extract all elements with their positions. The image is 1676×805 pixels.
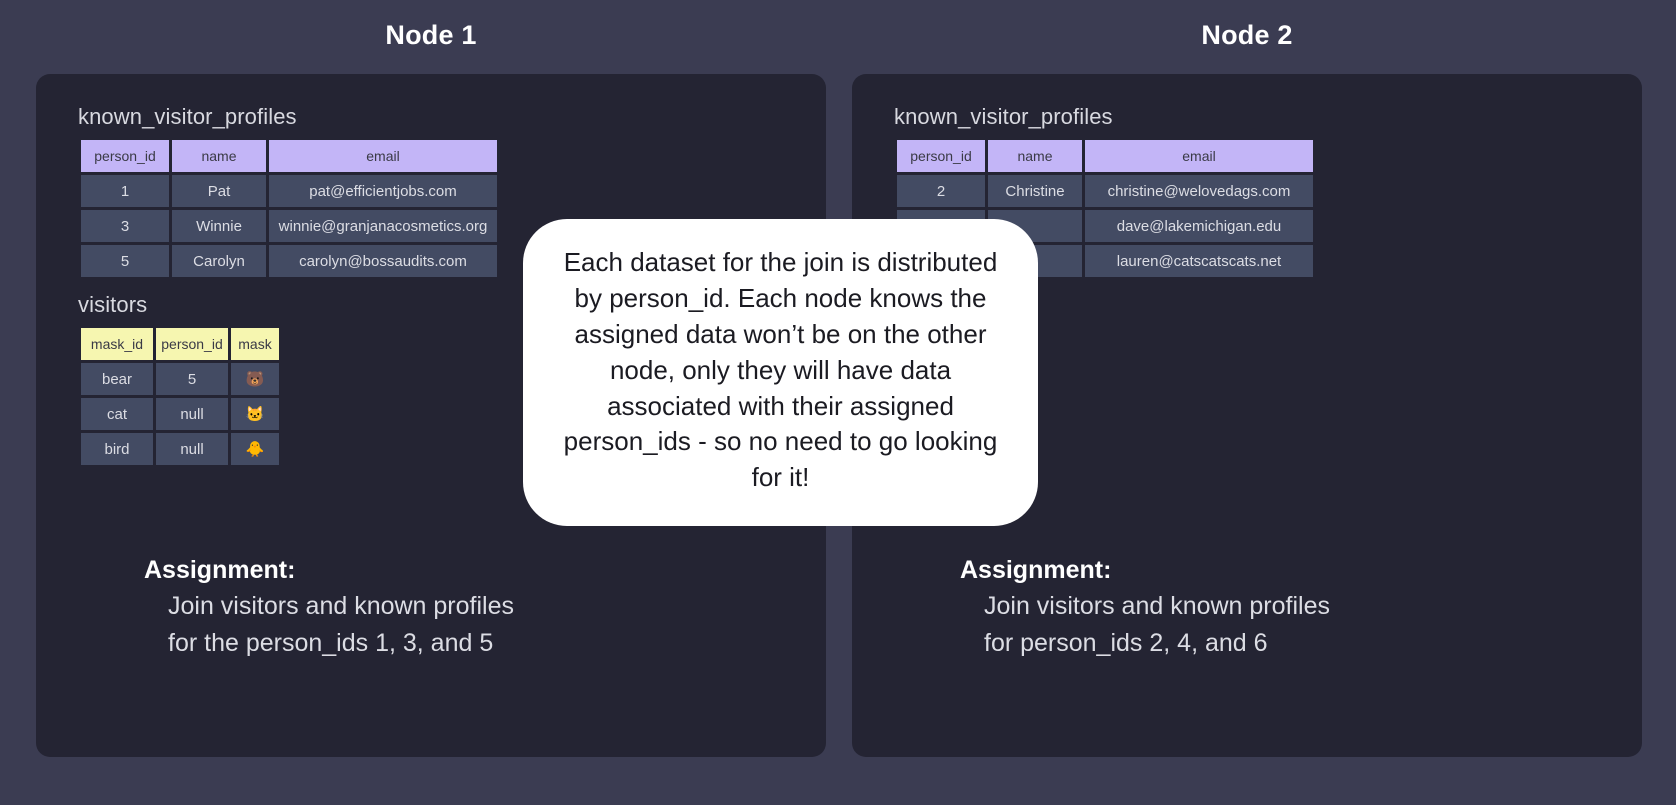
node-1-visitors-caption: visitors (78, 292, 282, 318)
column-header-person-id: person_id (156, 328, 228, 360)
column-header-mask-id: mask_id (81, 328, 153, 360)
column-header-email: email (269, 140, 497, 172)
table-header-row: person_id name email (897, 140, 1313, 172)
cell-person-id: 2 (897, 175, 985, 207)
cell-mask-id: bear (81, 363, 153, 395)
cell-email: dave@lakemichigan.edu (1085, 210, 1313, 242)
node-1-assignment: Assignment: Join visitors and known prof… (144, 552, 514, 661)
cell-email: christine@welovedags.com (1085, 175, 1313, 207)
column-header-person-id: person_id (81, 140, 169, 172)
cell-person-id: null (156, 398, 228, 430)
column-header-email: email (1085, 140, 1313, 172)
column-header-mask: mask (231, 328, 279, 360)
assignment-label: Assignment: (144, 552, 514, 588)
node-1-visitors-table: mask_id person_id mask bear 5 🐻 cat null (78, 325, 282, 468)
cell-person-id: 1 (81, 175, 169, 207)
table-row: 5 Carolyn carolyn@bossaudits.com (81, 245, 497, 277)
cell-person-id: 5 (156, 363, 228, 395)
column-header-person-id: person_id (897, 140, 985, 172)
cell-name: Christine (988, 175, 1082, 207)
cell-email: carolyn@bossaudits.com (269, 245, 497, 277)
bear-emoji-icon: 🐻 (231, 363, 279, 395)
table-row: bear 5 🐻 (81, 363, 279, 395)
cell-person-id: 3 (81, 210, 169, 242)
cell-mask-id: cat (81, 398, 153, 430)
table-row: 3 Winnie winnie@granjanacosmetics.org (81, 210, 497, 242)
table-row: 2 Christine christine@welovedags.com (897, 175, 1313, 207)
cat-emoji-icon: 🐱 (231, 398, 279, 430)
assignment-line-2: for person_ids 2, 4, and 6 (984, 625, 1330, 661)
table-row: cat null 🐱 (81, 398, 279, 430)
cell-mask-id: bird (81, 433, 153, 465)
cell-person-id: null (156, 433, 228, 465)
column-header-name: name (988, 140, 1082, 172)
cell-name: Winnie (172, 210, 266, 242)
bird-emoji-icon: 🐥 (231, 433, 279, 465)
table-row: bird null 🐥 (81, 433, 279, 465)
column-header-name: name (172, 140, 266, 172)
node-2-assignment: Assignment: Join visitors and known prof… (960, 552, 1330, 661)
cell-email: winnie@granjanacosmetics.org (269, 210, 497, 242)
cell-name: Carolyn (172, 245, 266, 277)
cell-name: Pat (172, 175, 266, 207)
node-1-visitors-table-block: visitors mask_id person_id mask bear 5 🐻 (78, 292, 282, 468)
table-header-row: mask_id person_id mask (81, 328, 279, 360)
node-2-title: Node 2 (852, 20, 1642, 51)
assignment-line-1: Join visitors and known profiles (984, 588, 1330, 624)
node-1-title: Node 1 (36, 20, 826, 51)
assignment-label: Assignment: (960, 552, 1330, 588)
assignment-line-2: for the person_ids 1, 3, and 5 (168, 625, 514, 661)
table-row: 1 Pat pat@efficientjobs.com (81, 175, 497, 207)
cell-email: lauren@catscatscats.net (1085, 245, 1313, 277)
diagram-stage: Node 1 known_visitor_profiles person_id … (0, 0, 1676, 805)
assignment-line-1: Join visitors and known profiles (168, 588, 514, 624)
node-1-known-visitor-profiles-table-block: known_visitor_profiles person_id name em… (78, 104, 500, 280)
node-1-profiles-caption: known_visitor_profiles (78, 104, 500, 130)
explanation-speech-bubble: Each dataset for the join is distributed… (523, 219, 1038, 526)
table-header-row: person_id name email (81, 140, 497, 172)
node-2-profiles-caption: known_visitor_profiles (894, 104, 1316, 130)
node-1-profiles-table: person_id name email 1 Pat pat@efficient… (78, 137, 500, 280)
cell-person-id: 5 (81, 245, 169, 277)
cell-email: pat@efficientjobs.com (269, 175, 497, 207)
